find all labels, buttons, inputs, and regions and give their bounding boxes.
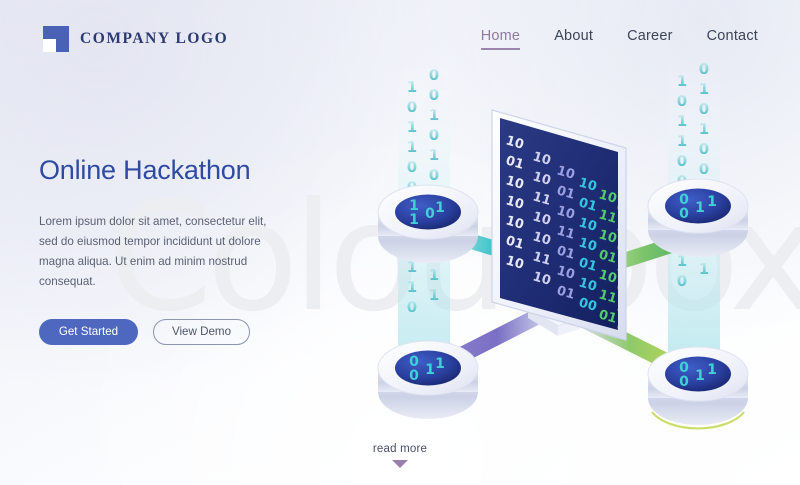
svg-text:0: 0 (429, 86, 439, 104)
svg-text:0: 0 (679, 206, 689, 222)
hero-actions: Get Started View Demo (39, 319, 339, 345)
svg-text:1: 1 (407, 278, 417, 296)
nav-item-about[interactable]: About (554, 28, 593, 50)
svg-text:1: 1 (677, 132, 687, 150)
brand-logo[interactable]: COMPANY LOGO (43, 26, 228, 52)
site-header: COMPANY LOGO Home About Career Contact (0, 0, 800, 76)
svg-text:0: 0 (679, 374, 689, 390)
read-more-link[interactable]: read more (0, 443, 800, 468)
svg-text:0: 0 (677, 152, 687, 170)
svg-text:0: 0 (407, 158, 417, 176)
svg-text:1: 1 (699, 120, 709, 138)
monitor: 10 01 10 10 10 01 10 10 10 11 10 10 (492, 110, 636, 340)
svg-text:1: 1 (429, 146, 439, 164)
node-bottom-right: 010 1 (648, 347, 748, 428)
nav-item-career[interactable]: Career (627, 28, 673, 50)
svg-text:1: 1 (407, 138, 417, 156)
view-demo-button[interactable]: View Demo (153, 319, 250, 345)
svg-text:0: 0 (429, 166, 439, 184)
svg-text:0: 0 (429, 126, 439, 144)
svg-text:1: 1 (707, 362, 717, 378)
read-more-label: read more (0, 443, 800, 455)
get-started-button[interactable]: Get Started (39, 319, 138, 345)
svg-text:1: 1 (707, 194, 717, 210)
svg-text:1: 1 (699, 80, 709, 98)
svg-text:1: 1 (677, 112, 687, 130)
svg-text:1: 1 (435, 200, 445, 216)
brand-name: COMPANY LOGO (80, 30, 228, 48)
svg-text:1: 1 (429, 266, 439, 284)
page-title: Online Hackathon (39, 155, 339, 186)
node-bottom-left: 010 1 (378, 341, 478, 419)
hero-description: Lorem ipsum dolor sit amet, consectetur … (39, 212, 287, 292)
svg-text:1: 1 (407, 118, 417, 136)
node-top-left: 101 1 (378, 185, 478, 263)
chevron-down-icon (392, 460, 408, 468)
svg-text:0: 0 (699, 100, 709, 118)
svg-text:0: 0 (407, 98, 417, 116)
isometric-network-monitor-illustration: 101 100 110 110 001 010 011 011 101 100 … (350, 40, 800, 460)
nav-item-home[interactable]: Home (481, 28, 520, 50)
svg-text:0: 0 (677, 272, 687, 290)
svg-text:1: 1 (429, 286, 439, 304)
svg-text:0: 0 (699, 160, 709, 178)
svg-text:1: 1 (435, 356, 445, 372)
hero-section: Online Hackathon Lorem ipsum dolor sit a… (39, 155, 339, 345)
node-top-right: 010 1 (648, 179, 748, 257)
svg-text:1: 1 (409, 212, 419, 228)
svg-text:1: 1 (695, 200, 705, 216)
svg-text:0: 0 (407, 298, 417, 316)
landing-page: Colourbox COMPANY LOGO Home About Career… (0, 0, 800, 485)
svg-text:0: 0 (677, 92, 687, 110)
svg-text:0: 0 (699, 140, 709, 158)
main-nav: Home About Career Contact (481, 28, 758, 50)
svg-text:1: 1 (407, 78, 417, 96)
logo-square-notch-icon (43, 26, 69, 52)
nav-item-contact[interactable]: Contact (707, 28, 758, 50)
svg-text:0: 0 (425, 206, 435, 222)
svg-text:1: 1 (699, 260, 709, 278)
svg-text:1: 1 (429, 106, 439, 124)
svg-text:0: 0 (409, 368, 419, 384)
svg-text:1: 1 (695, 368, 705, 384)
svg-text:1: 1 (425, 362, 435, 378)
